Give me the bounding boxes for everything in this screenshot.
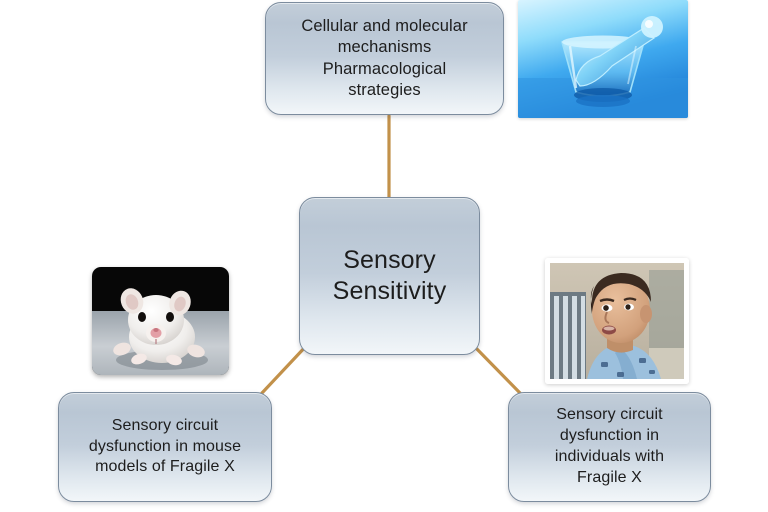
node-bottom-left-label: Sensory circuit dysfunction in mouse mod… [79,416,251,478]
mortar-and-pestle-photo [518,0,688,118]
node-bottom-left-mouse-models[interactable]: Sensory circuit dysfunction in mouse mod… [58,392,272,502]
node-top-cellular-mechanisms[interactable]: Cellular and molecular mechanisms Pharma… [265,2,504,115]
connector-center-to-bottom-right [472,344,520,393]
node-bottom-right-label: Sensory circuit dysfunction in individua… [545,405,674,488]
node-center-label: Sensory Sensitivity [323,245,457,308]
node-bottom-right-individuals[interactable]: Sensory circuit dysfunction in individua… [508,392,711,502]
node-center-sensory-sensitivity[interactable]: Sensory Sensitivity [299,197,480,355]
connector-center-to-bottom-left [262,344,308,393]
laboratory-mouse-photo [92,267,229,375]
diagram-canvas: Cellular and molecular mechanisms Pharma… [0,0,768,512]
child-portrait-photo [545,258,689,384]
node-top-label: Cellular and molecular mechanisms Pharma… [291,16,477,102]
